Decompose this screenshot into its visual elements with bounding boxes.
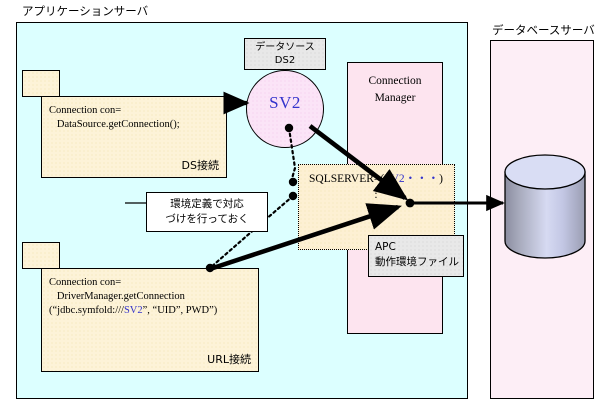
- apc-line2: 動作環境ファイル: [375, 256, 459, 268]
- arrow-config-to-database: [406, 199, 503, 208]
- connector-layer: [0, 0, 610, 407]
- database-cylinder: [505, 155, 585, 258]
- apc-note-box: APC 動作環境ファイル: [368, 235, 464, 277]
- apc-note-text: APC 動作環境ファイル: [375, 240, 459, 270]
- diagram-canvas: アプリケーションサーバ データベースサーバ Connection Manager…: [0, 0, 610, 407]
- mapping-note-box: 環境定義で対応 づけを行っておく: [146, 192, 268, 232]
- arrow-sv2-to-config: [310, 126, 405, 198]
- apc-line1: APC: [375, 241, 396, 253]
- dotted-mapping-sv2: [285, 124, 297, 186]
- mapping-note-line1: 環境定義で対応: [170, 197, 244, 212]
- mapping-note-line2: づけを行っておく: [165, 212, 248, 227]
